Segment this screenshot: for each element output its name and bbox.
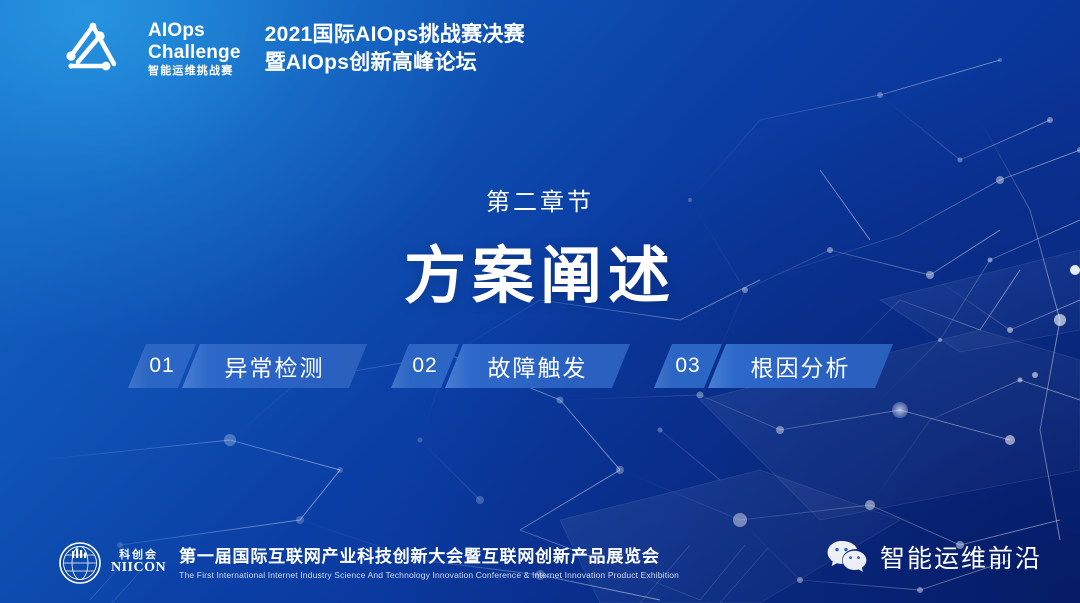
event-title-line-1: 2021国际AIOps挑战赛决赛	[265, 21, 525, 49]
event-title: 2021国际AIOps挑战赛决赛 暨AIOps创新高峰论坛	[265, 21, 525, 78]
step-label-03: 根因分析	[708, 344, 893, 388]
niicon-wordmark: 科创会 NIICON	[111, 550, 166, 576]
step-chevron-list: 01 异常检测 02 故障触发 03 根因分析	[128, 344, 893, 388]
niicon-globe-emblem-icon	[58, 541, 102, 585]
wechat-account-name: 智能运维前沿	[880, 539, 1042, 575]
logo-wordmark: AIOps Challenge 智能运维挑战赛	[148, 21, 241, 77]
logo-line-chinese: 智能运维挑战赛	[148, 66, 241, 77]
footer-conference-title: 第一届国际互联网产业科技创新大会暨互联网创新产品展览会 The First In…	[179, 546, 679, 579]
niicon-latin-label: NIICON	[111, 561, 166, 576]
step-item-03[interactable]: 03 根因分析	[654, 344, 893, 388]
logo-line-challenge: Challenge	[148, 43, 241, 62]
wechat-account-watermark: 智能运维前沿	[826, 539, 1042, 575]
footer-title-english: The First International Internet Industr…	[179, 570, 679, 580]
step-label-02: 故障触发	[445, 344, 630, 388]
chapter-block: 第二章节 方案阐述	[0, 182, 1080, 311]
presentation-slide: AIOps Challenge 智能运维挑战赛 2021国际AIOps挑战赛决赛…	[0, 0, 1080, 603]
footer-conference-branding: 科创会 NIICON 第一届国际互联网产业科技创新大会暨互联网创新产品展览会 T…	[58, 541, 679, 585]
logo-line-aiops: AIOps	[148, 21, 241, 40]
step-item-01[interactable]: 01 异常检测	[128, 344, 367, 388]
page-title: 方案阐述	[0, 243, 1080, 311]
wechat-icon	[826, 539, 868, 575]
aiops-challenge-logo-icon	[56, 18, 130, 80]
step-item-02[interactable]: 02 故障触发	[391, 344, 630, 388]
step-label-01: 异常检测	[182, 344, 367, 388]
chapter-label: 第二章节	[0, 182, 1080, 217]
slide-header: AIOps Challenge 智能运维挑战赛 2021国际AIOps挑战赛决赛…	[56, 18, 525, 80]
event-title-line-2: 暨AIOps创新高峰论坛	[265, 49, 525, 77]
footer-title-chinese: 第一届国际互联网产业科技创新大会暨互联网创新产品展览会	[179, 546, 679, 567]
